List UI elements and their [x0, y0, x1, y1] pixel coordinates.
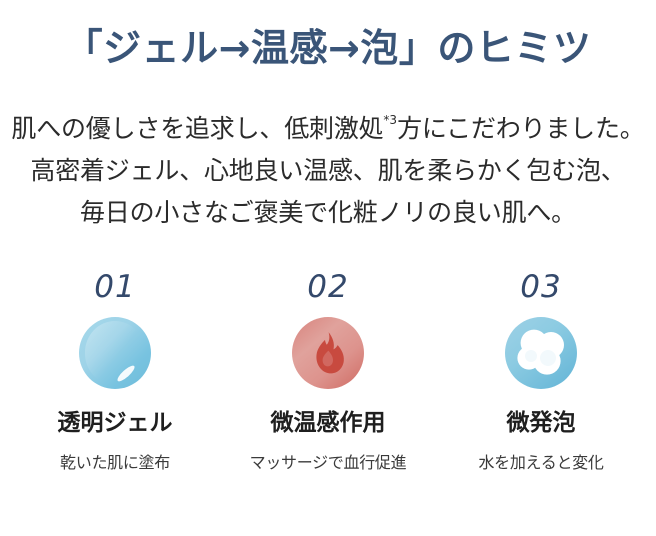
lead-paragraph: 肌への優しさを追求し、低刺激処*3方にこだわりました。 高密着ジェル、心地良い温…	[0, 108, 656, 234]
lead-line-1-text-before: 肌への優しさを追求し、低刺激処	[11, 114, 383, 143]
steps-row: 01 透明ジェル 乾いた肌に塗布 02 微温感作用 マッサージで血行促進 03	[0, 272, 656, 472]
step-label: 微発泡	[507, 409, 576, 437]
gel-sheen-decoration	[85, 321, 145, 384]
lead-line-1-text-after: 方にこだわりました。	[397, 114, 645, 143]
infographic-panel: 「ジェル→温感→泡」のヒミツ 肌への優しさを追求し、低刺激処*3方にこだわりまし…	[0, 0, 656, 536]
step-number: 02	[307, 272, 348, 303]
step-item-01: 01 透明ジェル 乾いた肌に塗布	[18, 272, 212, 472]
step-item-03: 03 微発泡 水を加えると変化	[444, 272, 638, 472]
foam-bubbles-icon	[505, 317, 577, 389]
step-caption: 乾いた肌に塗布	[60, 453, 170, 472]
lead-line-1: 肌への優しさを追求し、低刺激処*3方にこだわりました。	[0, 108, 656, 150]
step-caption: マッサージで血行促進	[250, 453, 407, 472]
page-title: 「ジェル→温感→泡」のヒミツ	[0, 28, 656, 70]
lead-line-2: 高密着ジェル、心地良い温感、肌を柔らかく包む泡、	[0, 150, 656, 192]
step-caption: 水を加えると変化	[478, 453, 603, 472]
flame-icon	[292, 317, 364, 389]
step-number: 01	[94, 272, 135, 303]
step-label: 透明ジェル	[58, 409, 173, 437]
title-block: 「ジェル→温感→泡」のヒミツ	[0, 28, 656, 70]
step-number: 03	[520, 272, 561, 303]
step-item-02: 02 微温感作用 マッサージで血行促進	[231, 272, 425, 472]
footnote-marker: *3	[383, 113, 397, 127]
gel-drop-icon	[79, 317, 151, 389]
lead-line-3: 毎日の小さなご褒美で化粧ノリの良い肌へ。	[0, 192, 656, 234]
step-label: 微温感作用	[271, 409, 386, 437]
